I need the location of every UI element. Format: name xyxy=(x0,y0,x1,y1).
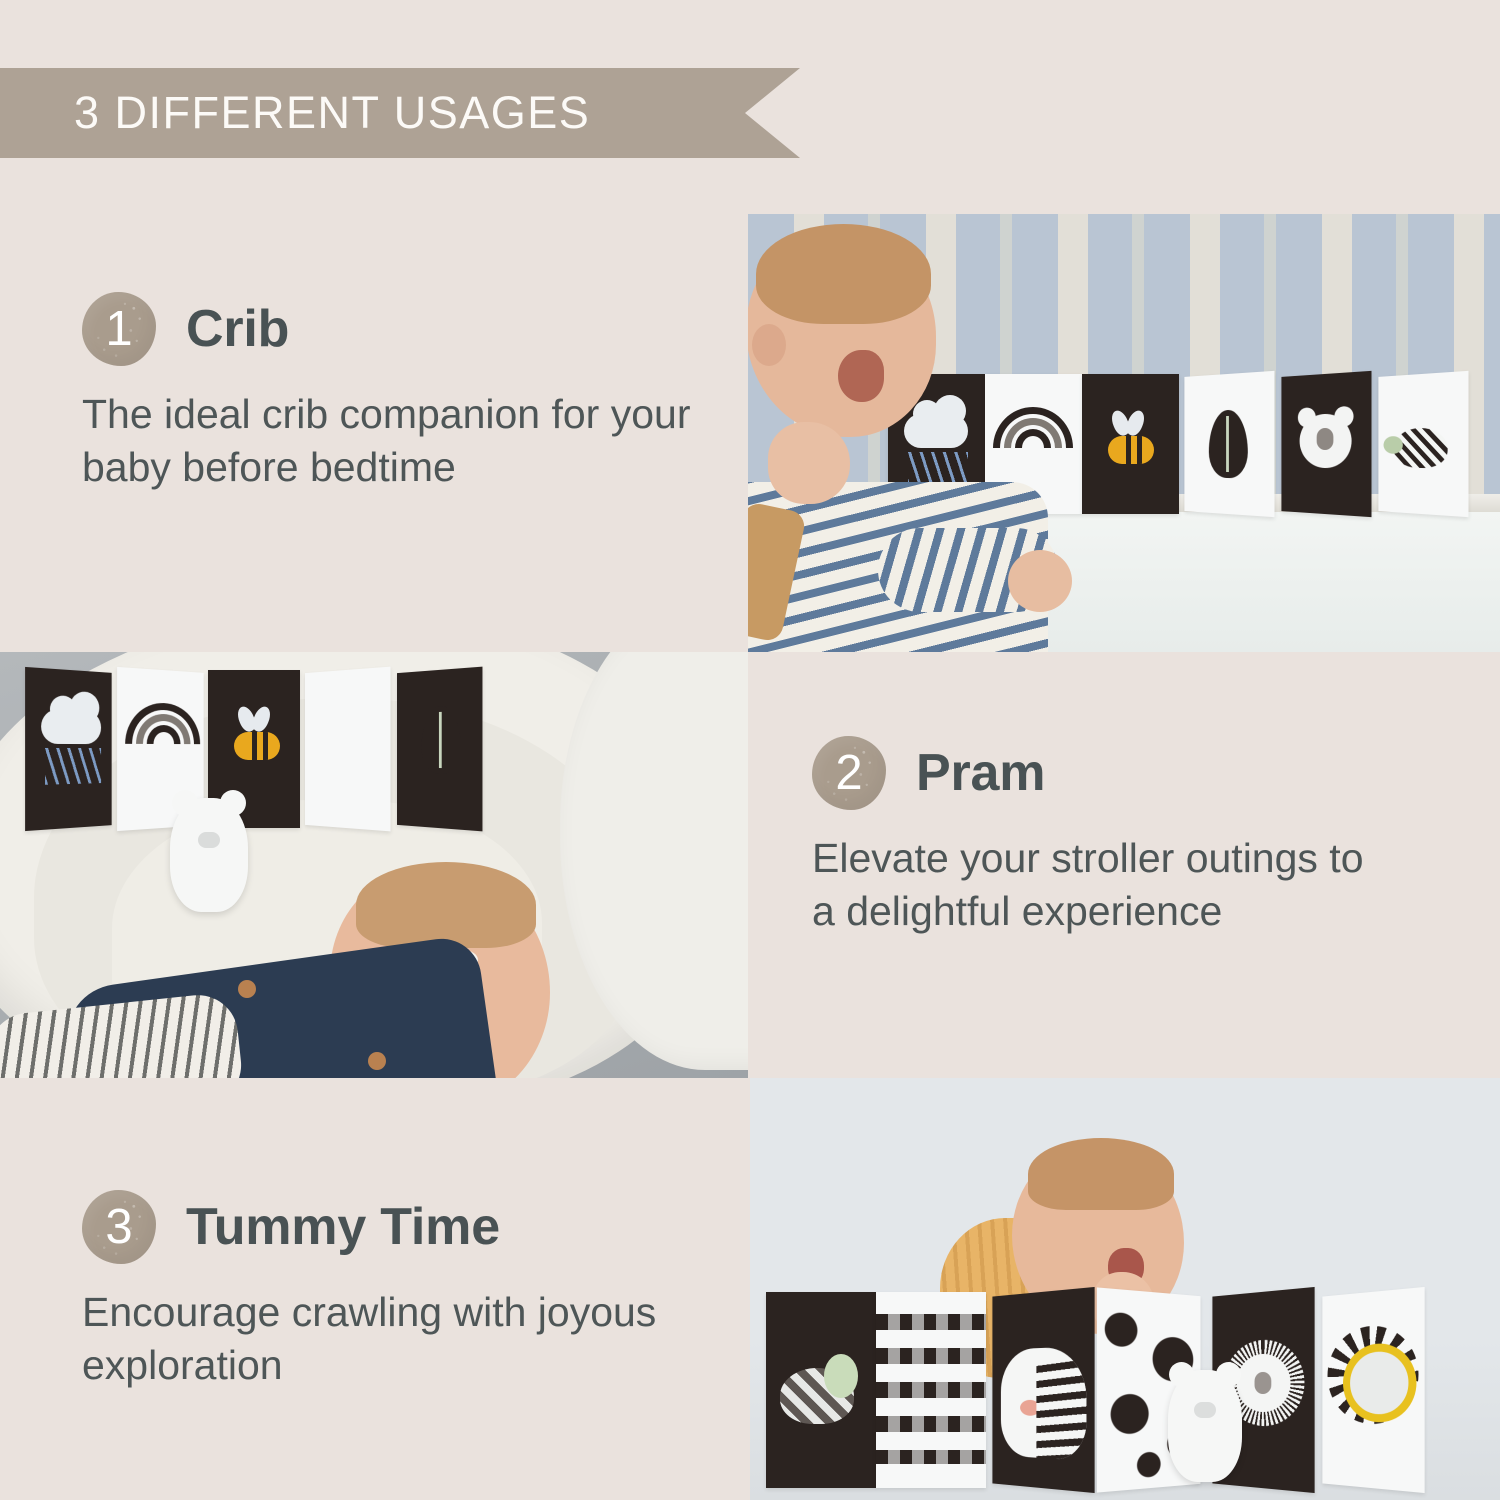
rain-icon xyxy=(45,748,101,785)
section-1-body: The ideal crib companion for your baby b… xyxy=(82,388,697,495)
baby-hand xyxy=(768,422,850,504)
baby-in-crib xyxy=(748,232,1038,652)
wave-pattern-icon xyxy=(876,1314,986,1464)
turtle-panel xyxy=(766,1292,876,1488)
turtle-panel xyxy=(1378,371,1468,517)
section-1-title: Crib xyxy=(186,299,289,359)
bear-plush-toy xyxy=(170,798,248,912)
cloth-book-bumper xyxy=(24,670,484,828)
bee-icon xyxy=(1108,436,1154,464)
bear-snout-icon xyxy=(1194,1402,1216,1418)
leaf-panel xyxy=(1184,371,1274,517)
bee-wing-icon xyxy=(1124,408,1148,438)
badge-number-label: 1 xyxy=(105,305,132,354)
turtle-icon xyxy=(780,1368,854,1424)
banner-title: 3 DIFFERENT USAGES xyxy=(74,87,590,139)
baby-open-mouth xyxy=(838,350,884,402)
leaf-panel xyxy=(397,667,482,832)
cloth-book-unfolded xyxy=(766,1292,1426,1488)
section-2-body: Elevate your stroller outings to a delig… xyxy=(812,832,1382,939)
blank-panel xyxy=(305,667,390,832)
bee-icon xyxy=(234,732,280,760)
lion-face-icon xyxy=(1237,1353,1291,1413)
badge-number-label: 3 xyxy=(105,1203,132,1252)
rain-cloud-panel xyxy=(25,667,112,831)
wave-panel xyxy=(876,1292,986,1488)
zebra-cheek-icon xyxy=(1020,1400,1040,1416)
section-2-heading-row: 2 Pram xyxy=(812,736,1432,810)
baby-hair xyxy=(1028,1138,1174,1210)
banner-ribbon: 3 DIFFERENT USAGES xyxy=(0,68,800,158)
section-3-body: Encourage crawling with joyous explorati… xyxy=(82,1286,707,1393)
bear-face-icon xyxy=(1300,413,1352,468)
mirror-ring-icon xyxy=(1343,1342,1416,1423)
cloud-icon xyxy=(41,709,101,744)
leaf-icon xyxy=(422,705,461,774)
section-2-text-block: 2 Pram Elevate your stroller outings to … xyxy=(812,736,1432,939)
leaf-icon xyxy=(1209,409,1248,478)
bear-face-panel xyxy=(1281,371,1371,517)
baby-fist xyxy=(1008,550,1072,612)
section-1-text-block: 1 Crib The ideal crib companion for your… xyxy=(82,292,722,495)
section-3-title: Tummy Time xyxy=(186,1197,500,1257)
pram-photo xyxy=(0,652,748,1078)
turtle-head-icon xyxy=(1384,436,1403,454)
zebra-icon xyxy=(1001,1346,1087,1461)
lion-snout-icon xyxy=(1255,1372,1272,1394)
bear-plush-toy xyxy=(1168,1370,1242,1482)
knit-button xyxy=(368,1052,386,1070)
number-badge-1: 1 xyxy=(82,292,156,366)
sunburst-mirror-panel xyxy=(1322,1287,1424,1493)
baby-head xyxy=(748,232,936,437)
baby-ear xyxy=(752,324,786,366)
section-2-title: Pram xyxy=(916,743,1045,803)
bear-snout-icon xyxy=(1317,428,1334,450)
number-badge-3: 3 xyxy=(82,1190,156,1264)
section-3-text-block: 3 Tummy Time Encourage crawling with joy… xyxy=(82,1190,722,1393)
crib-photo xyxy=(748,214,1500,652)
turtle-head-icon xyxy=(824,1354,858,1398)
infographic-page: 3 DIFFERENT USAGES 1 Crib The ideal crib… xyxy=(0,0,1500,1500)
rainbow-icon xyxy=(131,703,195,744)
tummy-time-photo xyxy=(750,1078,1500,1500)
turtle-icon xyxy=(1394,428,1448,469)
section-1-heading-row: 1 Crib xyxy=(82,292,722,366)
baby-hair xyxy=(756,224,931,324)
bee-wing-icon xyxy=(250,704,274,734)
baby-hair xyxy=(356,862,536,948)
knit-button xyxy=(238,980,256,998)
badge-number-label: 2 xyxy=(835,749,862,798)
bee-panel xyxy=(1082,374,1179,514)
bear-snout-icon xyxy=(198,832,220,848)
number-badge-2: 2 xyxy=(812,736,886,810)
section-3-heading-row: 3 Tummy Time xyxy=(82,1190,722,1264)
zebra-panel xyxy=(992,1287,1094,1493)
